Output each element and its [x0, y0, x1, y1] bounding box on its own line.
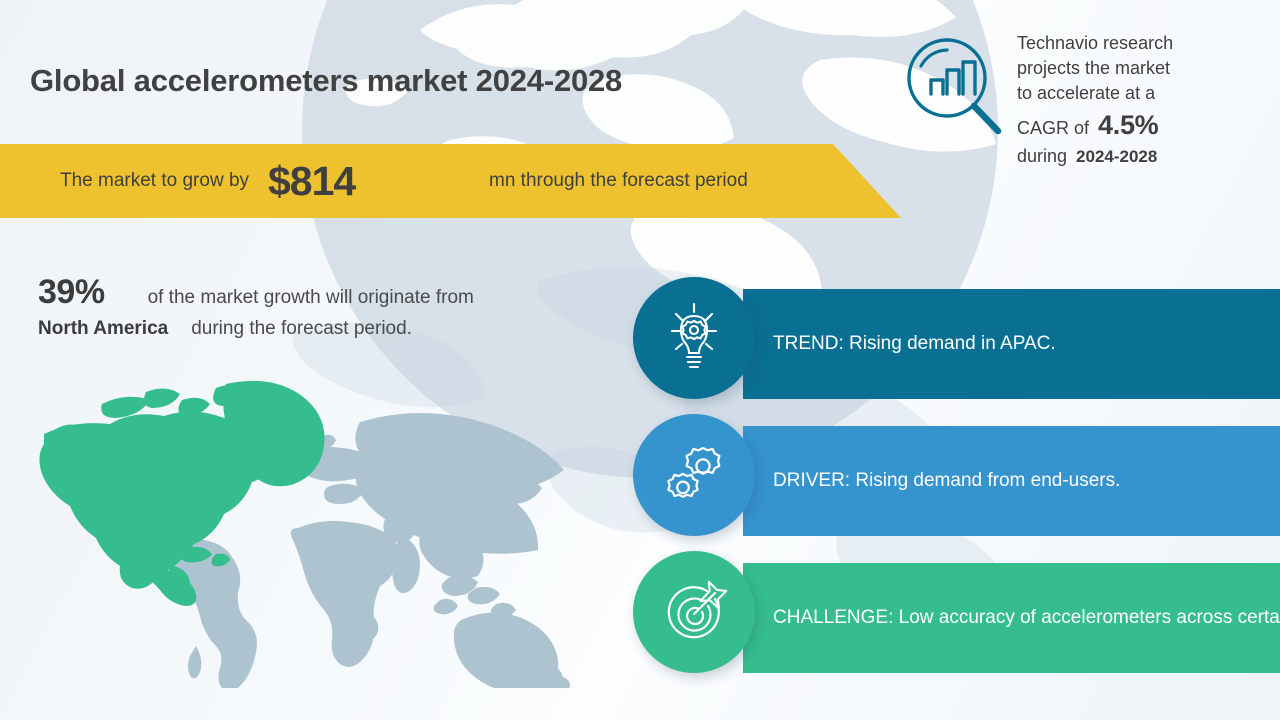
panel-challenge-icon-circle	[633, 551, 755, 673]
cagr-line-2: projects the market	[1017, 56, 1279, 81]
region-percent: 39%	[38, 273, 105, 312]
world-map	[30, 378, 590, 688]
panel-trend-text: TREND: Rising demand in APAC.	[773, 289, 1280, 399]
cagr-period: 2024-2028	[1076, 145, 1157, 169]
lightbulb-gear-icon	[656, 300, 732, 376]
cagr-line-3: to accelerate at a	[1017, 81, 1279, 106]
panel-challenge-text: CHALLENGE: Low accuracy of accelerometer…	[773, 563, 1280, 673]
panel-trend-icon-circle	[633, 277, 755, 399]
banner-prefix-label: The market to grow by	[60, 144, 249, 218]
panel-driver-icon-circle	[633, 414, 755, 536]
infographic-canvas: Global accelerometers market 2024-2028 T…	[0, 0, 1280, 720]
banner-suffix-label: mn through the forecast period	[489, 144, 748, 218]
region-text-2: during the forecast period.	[191, 318, 412, 340]
cagr-line-1: Technavio research	[1017, 31, 1279, 56]
magnifier-bar-chart-icon	[903, 36, 1005, 138]
banner-value: $814	[268, 144, 355, 218]
region-name: North America	[38, 318, 168, 340]
region-stat-block: 39% of the market growth will originate …	[38, 273, 598, 340]
cagr-label: CAGR of	[1017, 116, 1089, 141]
cagr-text-block: Technavio research projects the market t…	[1017, 31, 1279, 170]
region-text-1: of the market growth will originate from	[148, 287, 474, 309]
gears-icon	[655, 436, 733, 514]
target-arrow-icon	[655, 573, 733, 651]
page-title: Global accelerometers market 2024-2028	[30, 63, 622, 99]
panel-driver-text: DRIVER: Rising demand from end-users.	[773, 426, 1280, 536]
cagr-during-label: during	[1017, 144, 1067, 169]
map-region-north-america	[39, 381, 324, 606]
cagr-value: 4.5%	[1098, 107, 1158, 145]
